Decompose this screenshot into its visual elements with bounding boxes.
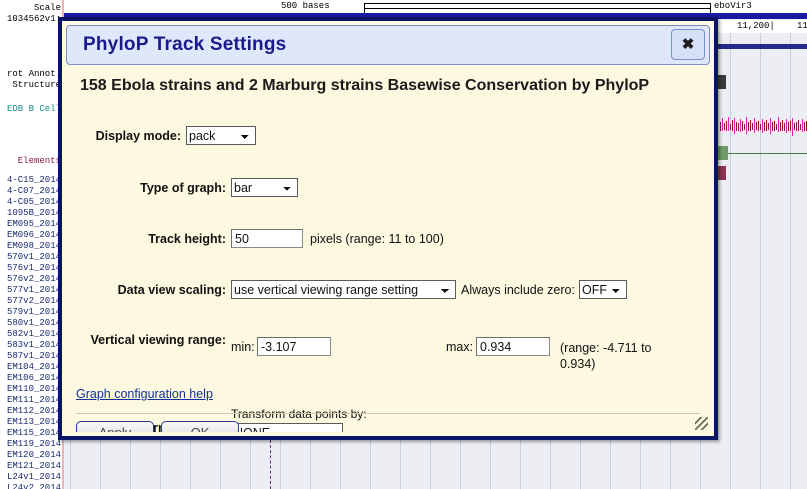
center-guide-line xyxy=(270,440,271,489)
display-mode-select[interactable]: pack xyxy=(186,126,256,145)
settings-form: Display mode: pack Type of graph: bar Tr… xyxy=(66,125,710,393)
assembly-label: eboVir3 xyxy=(714,1,752,11)
strain-row[interactable]: 580v1_2014 xyxy=(0,318,62,329)
strain-row[interactable]: 582v1_2014 xyxy=(0,329,62,340)
strain-row[interactable]: EM119_2014 xyxy=(0,439,62,450)
strain-row[interactable]: EM111_2014 xyxy=(0,395,62,406)
ruler-row: 500 bases eboVir3 xyxy=(64,0,807,13)
ok-button[interactable]: OK xyxy=(161,421,239,432)
row-track-height: Track height: pixels (range: 11 to 100) xyxy=(66,177,710,203)
track-label-structure[interactable]: Structure xyxy=(0,80,62,91)
coordinate-tick-2: 11, xyxy=(797,21,807,31)
feature-element-line xyxy=(728,153,807,154)
strain-row[interactable]: 576v2_2014 xyxy=(0,274,62,285)
strain-row[interactable]: EM096_2014 xyxy=(0,230,62,241)
dialog-titlebar[interactable]: PhyloP Track Settings ✖ xyxy=(66,25,710,65)
apply-button[interactable]: Apply xyxy=(76,421,154,432)
footer-divider xyxy=(76,413,700,414)
browser-track-label-column: Scale 1034562v1: rot Annot. Structure ED… xyxy=(0,0,62,489)
strain-row[interactable]: EM121_2014 xyxy=(0,461,62,472)
strain-row[interactable]: EM104_2014 xyxy=(0,362,62,373)
strain-row[interactable]: L24v2_2014 xyxy=(0,483,62,489)
conservation-wiggle[interactable] xyxy=(719,116,807,138)
strain-row[interactable]: 577v2_2014 xyxy=(0,296,62,307)
strain-row[interactable]: 576v1_2014 xyxy=(0,263,62,274)
strain-row[interactable]: 1095B_2014 xyxy=(0,208,62,219)
coordinate-tick-1: 11,200| xyxy=(737,21,775,31)
strain-row[interactable]: EM110_2014 xyxy=(0,384,62,395)
row-windowing-function: Windowing function: mean Smoothing windo… xyxy=(66,305,710,335)
track-label-edb-b-cell[interactable]: EDB B Cell xyxy=(0,104,62,115)
dialog-title: PhyloP Track Settings xyxy=(83,34,286,56)
strain-row[interactable]: EM112_2014 xyxy=(0,406,62,417)
row-graph-type: Type of graph: bar xyxy=(66,151,710,177)
resize-grip-icon[interactable] xyxy=(695,417,708,430)
dialog-body: 158 Ebola strains and 2 Marburg strains … xyxy=(66,67,710,432)
strain-row[interactable]: 4-C05_2014 xyxy=(0,197,62,208)
strain-row[interactable]: 579v1_2014 xyxy=(0,307,62,318)
row-display-mode: Display mode: pack xyxy=(66,125,710,151)
strain-row[interactable]: L24v1_2014 xyxy=(0,472,62,483)
strain-row[interactable]: EM095_2014 xyxy=(0,219,62,230)
dialog-heading: 158 Ebola strains and 2 Marburg strains … xyxy=(80,75,695,96)
display-mode-label: Display mode: xyxy=(76,129,181,143)
strain-row[interactable]: EM115_2014 xyxy=(0,428,62,439)
close-icon[interactable]: ✖ xyxy=(671,29,705,60)
scale-bar xyxy=(364,3,711,13)
track-label-prot-annot[interactable]: rot Annot. xyxy=(0,69,62,80)
strain-row[interactable]: 583v1_2014 xyxy=(0,340,62,351)
row-transform-function: Transform function: Transform data point… xyxy=(66,271,710,305)
phylop-track-settings-dialog: PhyloP Track Settings ✖ 158 Ebola strain… xyxy=(58,17,718,440)
strain-row[interactable]: 570v1_2014 xyxy=(0,252,62,263)
strain-row[interactable]: 4-C07_2014 xyxy=(0,186,62,197)
row-vertical-viewing-range: Vertical viewing range: min: max: (range… xyxy=(66,229,710,271)
track-label-elements[interactable]: Elements xyxy=(0,156,62,167)
strain-row[interactable]: EM106_2014 xyxy=(0,373,62,384)
strain-row[interactable]: 587v1_2014 xyxy=(0,351,62,362)
row-data-view-scaling: Data view scaling: use vertical viewing … xyxy=(66,203,710,229)
graph-configuration-help-link[interactable]: Graph configuration help xyxy=(76,387,213,401)
strain-row[interactable]: 4-C15_2014 xyxy=(0,175,62,186)
chrom-row-label: 1034562v1: xyxy=(0,14,62,25)
strain-row[interactable]: EM098_2014 xyxy=(0,241,62,252)
strain-row[interactable]: 577v1_2014 xyxy=(0,285,62,296)
strain-row[interactable]: EM113_2014 xyxy=(0,417,62,428)
transform-function-select[interactable]: NONE xyxy=(231,423,343,432)
scale-row-label: Scale xyxy=(0,3,62,14)
transform-function-sublabel: Transform data points by: xyxy=(231,407,367,421)
scale-bases-label: 500 bases xyxy=(281,1,330,11)
row-negate-values: Negate values: xyxy=(66,335,710,359)
strain-row[interactable]: EM120_2014 xyxy=(0,450,62,461)
